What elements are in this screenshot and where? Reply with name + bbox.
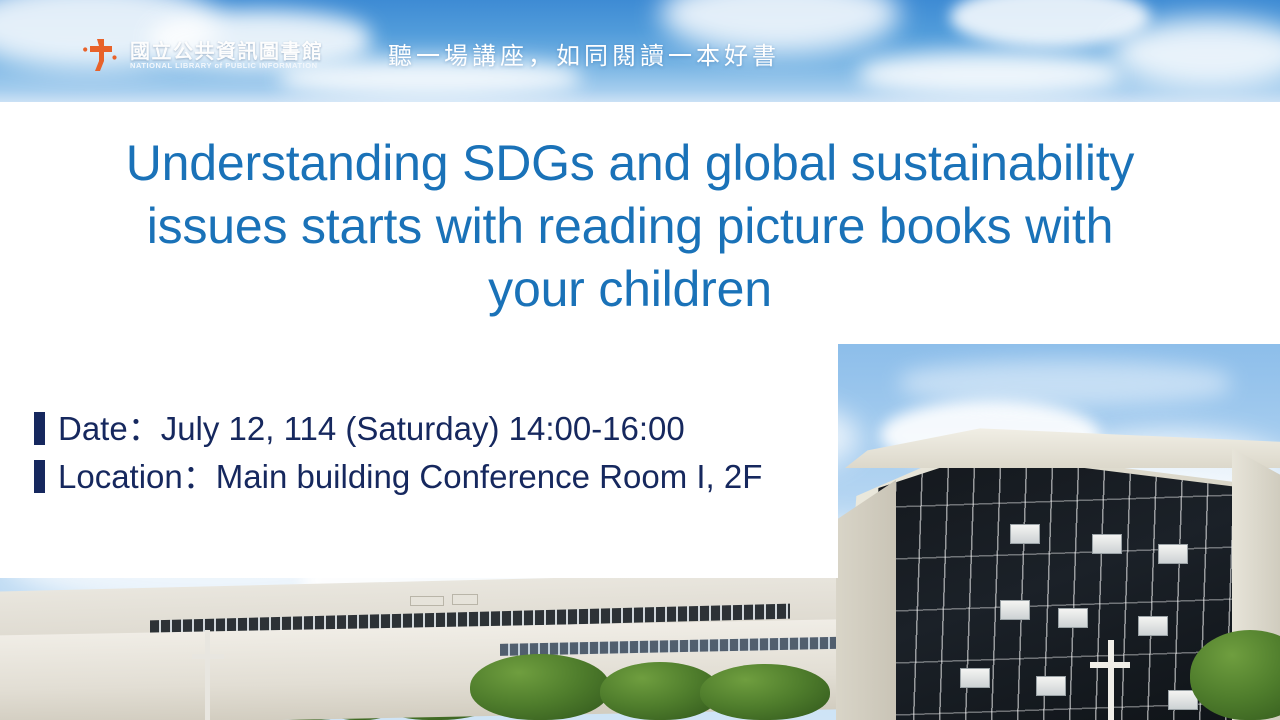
- accent-bar-icon: [34, 412, 45, 445]
- window-unit: [1138, 616, 1168, 636]
- event-title-line-2: issues starts with reading picture books…: [110, 195, 1150, 258]
- roof-equipment: [452, 594, 478, 605]
- window-unit: [1058, 608, 1088, 628]
- poster-canvas: 國立公共資訊圖書館 NATIONAL LIBRARY of PUBLIC INF…: [0, 0, 1280, 720]
- nlpi-logo-mark-icon: [82, 36, 120, 74]
- banner-tagline: 聽一場講座，如同閱讀一本好書: [388, 44, 780, 68]
- tree-shape: [700, 664, 830, 720]
- event-date-row: Date：July 12, 114 (Saturday) 14:00-16:00: [34, 406, 762, 450]
- window-unit: [1010, 524, 1040, 544]
- event-location-row: Location：Main building Conference Room I…: [34, 454, 762, 498]
- lamp-post: [205, 630, 210, 720]
- header-banner: 國立公共資訊圖書館 NATIONAL LIBRARY of PUBLIC INF…: [0, 0, 1280, 102]
- window-unit: [960, 668, 990, 688]
- lamp-arm: [1090, 662, 1130, 668]
- window-unit: [1000, 600, 1030, 620]
- event-title-line-1: Understanding SDGs and global sustainabi…: [110, 132, 1150, 195]
- tree-shape: [470, 654, 610, 720]
- event-title-line-3: your children: [110, 258, 1150, 321]
- event-location-text: Location：Main building Conference Room I…: [58, 460, 762, 493]
- event-title: Understanding SDGs and global sustainabi…: [110, 132, 1150, 321]
- window-unit: [1092, 534, 1122, 554]
- lamp-arm: [192, 654, 224, 659]
- cloud-shape: [860, 52, 1120, 96]
- window-unit: [1158, 544, 1188, 564]
- logo-name-cn: 國立公共資訊圖書館: [130, 41, 324, 61]
- event-date-text: Date：July 12, 114 (Saturday) 14:00-16:00: [58, 412, 685, 445]
- accent-bar-icon: [34, 460, 45, 493]
- logo-name-en: NATIONAL LIBRARY of PUBLIC INFORMATION: [130, 62, 324, 70]
- cloud-shape: [900, 360, 1230, 406]
- roof-equipment: [410, 596, 444, 606]
- library-logo[interactable]: 國立公共資訊圖書館 NATIONAL LIBRARY of PUBLIC INF…: [82, 36, 324, 74]
- logo-wordmark: 國立公共資訊圖書館 NATIONAL LIBRARY of PUBLIC INF…: [130, 41, 324, 70]
- tower-left-facade: [836, 480, 896, 720]
- event-details: Date：July 12, 114 (Saturday) 14:00-16:00…: [34, 406, 762, 502]
- window-unit: [1036, 676, 1066, 696]
- cloud-shape: [1110, 18, 1280, 88]
- lamp-post: [1108, 640, 1114, 720]
